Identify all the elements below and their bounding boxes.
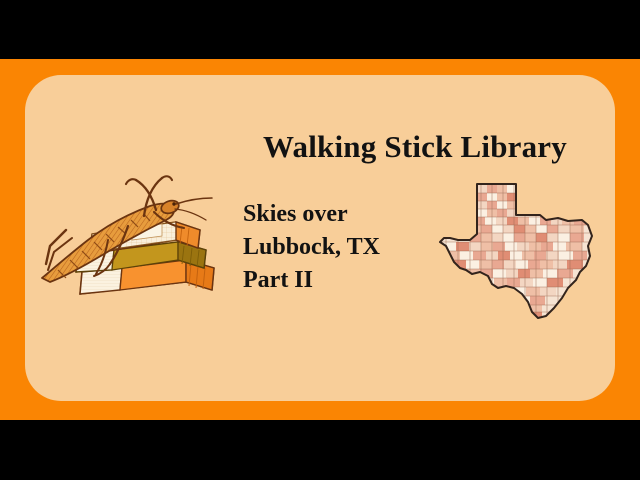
texas-county-map-illustration	[436, 176, 600, 326]
subtitle-line-3: Part II	[243, 264, 380, 297]
letterbox-bar-bottom	[0, 420, 640, 480]
walking-stick-insect-on-books-illustration	[36, 172, 228, 314]
video-frame-stage: Walking Stick Library Skies over Lubbock…	[0, 0, 640, 480]
page-title: Walking Stick Library	[210, 128, 620, 166]
subtitle-line-2: Lubbock, TX	[243, 231, 380, 264]
subtitle-line-1: Skies over	[243, 198, 380, 231]
slide-subtitle: Skies over Lubbock, TX Part II	[243, 198, 380, 297]
letterbox-bar-top	[0, 0, 640, 59]
texas-counties	[436, 176, 600, 326]
